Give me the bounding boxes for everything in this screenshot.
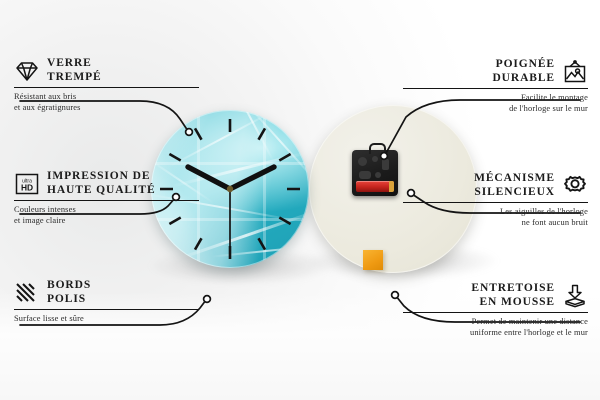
connector-dot-entretoise	[392, 292, 399, 299]
feature-header: BORDS POLIS	[14, 279, 199, 306]
arrow-press-pad-icon	[562, 284, 588, 308]
feature-description: Résistant aux bris et aux égratignures	[14, 92, 199, 113]
feature-mecanisme-silencieux: MÉCANISME SILENCIEUX Les aiguilles de l'…	[403, 172, 588, 229]
connector-dots	[173, 129, 415, 303]
feature-poignee-durable: POIGNÉE DURABLE Facilite le montage de	[403, 58, 588, 115]
feature-description: Facilite le montage de l'horloge sur le …	[403, 93, 588, 114]
feature-entretoise-en-mousse: ENTRETOISE EN MOUSSE Permet de maintenir…	[403, 282, 588, 339]
connector-dot-verre	[186, 129, 193, 136]
connector-dot-bords	[204, 296, 211, 303]
feature-header: VERRE TREMPÉ	[14, 57, 199, 84]
divider	[14, 309, 199, 310]
gear-icon	[562, 174, 588, 198]
divider	[14, 200, 199, 201]
diagonal-stripes-icon	[14, 281, 40, 305]
picture-frame-hanging-icon	[562, 60, 588, 84]
feature-header: ENTRETOISE EN MOUSSE	[403, 282, 588, 309]
connector-dot-poignee	[381, 153, 388, 160]
feature-description: Surface lisse et sûre	[14, 314, 199, 325]
feature-title: VERRE TREMPÉ	[47, 57, 102, 84]
feature-header: MÉCANISME SILENCIEUX	[403, 172, 588, 199]
feature-bords-polis: BORDS POLIS Surface lisse et sûre	[14, 279, 199, 325]
ultra-hd-icon: ultra HD	[14, 172, 40, 196]
infographic-canvas: VERRE TREMPÉ Résistant aux bris et aux é…	[0, 0, 600, 400]
feature-title: MÉCANISME SILENCIEUX	[474, 172, 555, 199]
divider	[403, 312, 588, 313]
divider	[403, 202, 588, 203]
divider	[14, 87, 199, 88]
feature-description: Permet de maintenir une distance uniform…	[403, 317, 588, 338]
svg-text:HD: HD	[21, 182, 33, 192]
feature-title: IMPRESSION DE HAUTE QUALITÉ	[47, 170, 156, 197]
feature-description: Couleurs intenses et image claire	[14, 205, 199, 226]
feature-title: ENTRETOISE EN MOUSSE	[471, 282, 555, 309]
feature-impression-haute-qualite: ultra HD IMPRESSION DE HAUTE QUALITÉ Cou…	[14, 170, 199, 227]
diamond-icon	[14, 59, 40, 83]
feature-header: ultra HD IMPRESSION DE HAUTE QUALITÉ	[14, 170, 199, 197]
feature-title: BORDS POLIS	[47, 279, 91, 306]
feature-header: POIGNÉE DURABLE	[403, 58, 588, 85]
feature-title: POIGNÉE DURABLE	[492, 58, 555, 85]
feature-description: Les aiguilles de l'horloge ne font aucun…	[403, 207, 588, 228]
divider	[403, 88, 588, 89]
feature-verre-trempe: VERRE TREMPÉ Résistant aux bris et aux é…	[14, 57, 199, 114]
